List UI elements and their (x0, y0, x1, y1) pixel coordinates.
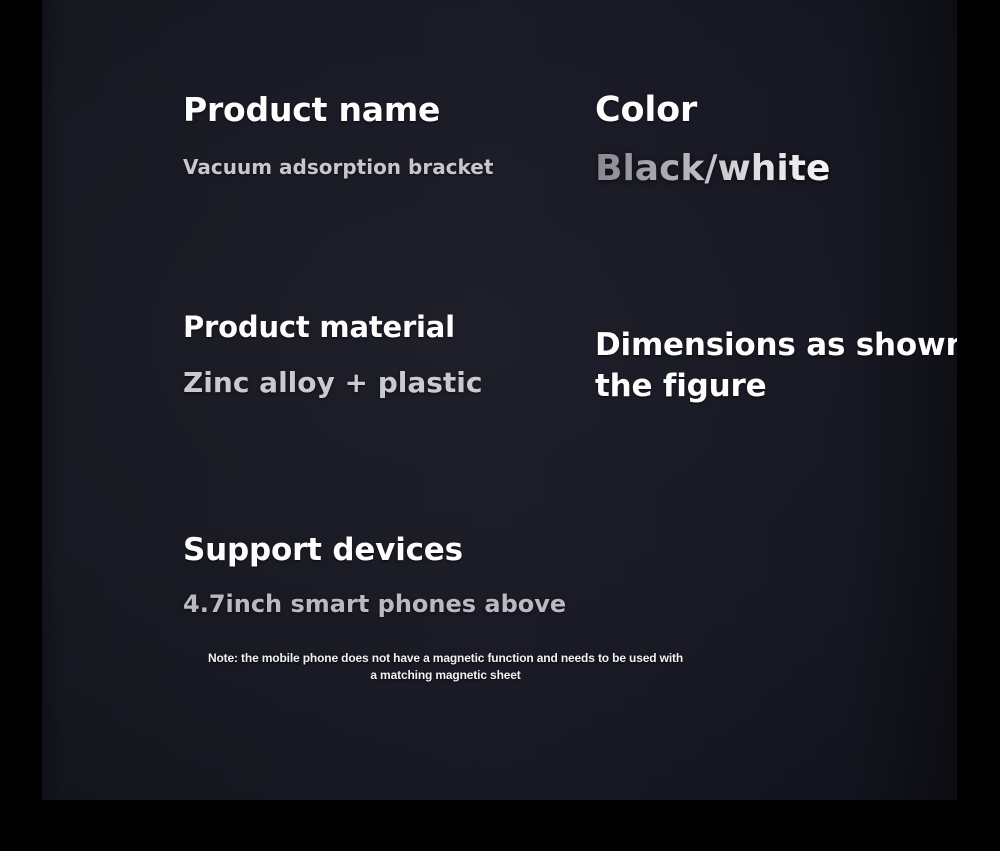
spec-value-product-material: Zinc alloy + plastic (183, 366, 483, 399)
spec-title-support-devices: Support devices (183, 532, 566, 568)
spec-block-product-material: Product material Zinc alloy + plastic (183, 310, 483, 399)
product-spec-screenshot: Product name Vacuum adsorption bracket P… (0, 0, 1000, 851)
spec-title-color: Color (595, 90, 830, 130)
note-line-1: Note: the mobile phone does not have a m… (173, 650, 718, 667)
spec-title-product-material: Product material (183, 310, 483, 344)
spec-block-dimensions: Dimensions as shown in the figure (595, 325, 957, 407)
spec-value-support-devices: 4.7inch smart phones above (183, 590, 566, 618)
magnetic-sheet-note: Note: the mobile phone does not have a m… (173, 650, 718, 685)
spec-block-color: Color Black/white (595, 90, 830, 189)
spec-title-dimensions: Dimensions as shown in the figure (595, 325, 957, 407)
spec-title-product-name: Product name (183, 90, 493, 129)
spec-block-product-name: Product name Vacuum adsorption bracket (183, 90, 493, 179)
spec-value-product-name: Vacuum adsorption bracket (183, 155, 493, 179)
note-line-2: a matching magnetic sheet (173, 667, 718, 684)
spec-block-support-devices: Support devices 4.7inch smart phones abo… (183, 532, 566, 618)
spec-panel: Product name Vacuum adsorption bracket P… (42, 0, 957, 800)
spec-value-color: Black/white (595, 148, 830, 189)
